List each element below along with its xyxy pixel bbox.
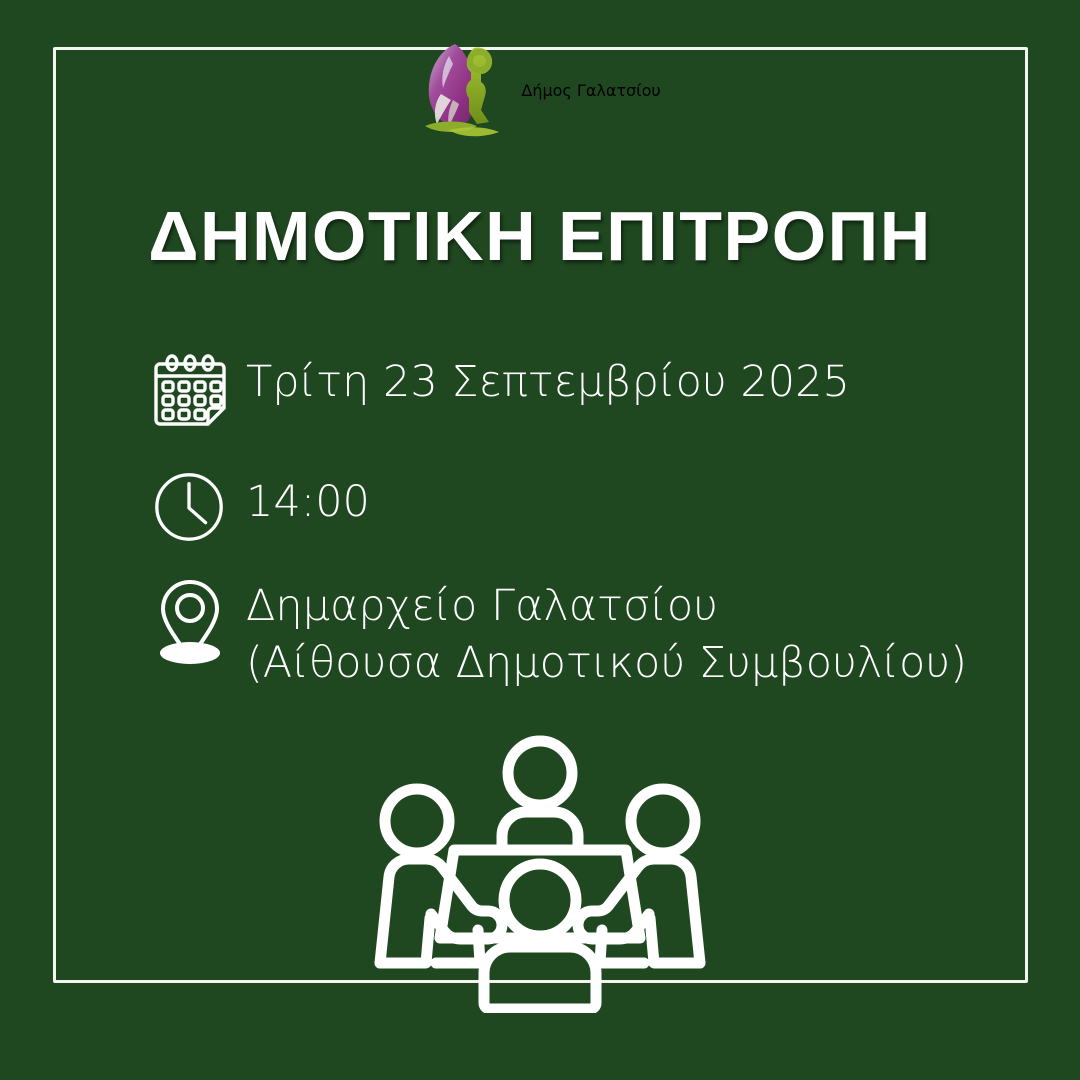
calendar-icon bbox=[150, 348, 246, 434]
meeting-table-people-icon bbox=[366, 728, 714, 1013]
brand-header: Δήμος Γαλατσίου bbox=[0, 36, 1080, 144]
event-location-row: Δημαρχείο Γαλατσίου (Αίθουσα Δημοτικού Σ… bbox=[150, 572, 1000, 692]
event-time-row: 14:00 bbox=[150, 460, 1000, 546]
event-location-text: Δημαρχείο Γαλατσίου (Αίθουσα Δημοτικού Σ… bbox=[246, 572, 967, 692]
location-pin-icon bbox=[150, 572, 246, 666]
announcement-poster: Δήμος Γαλατσίου ΔΗΜΟΤΙΚΗ ΕΠΙΤΡΟΠΗ bbox=[0, 0, 1080, 1080]
event-time-text: 14:00 bbox=[246, 460, 370, 531]
brand-name: Δήμος Γαλατσίου bbox=[521, 81, 660, 100]
event-date-text: Τρίτη 23 Σεπτεμβρίου 2025 bbox=[246, 348, 850, 411]
event-date-row: Τρίτη 23 Σεπτεμβρίου 2025 bbox=[150, 348, 1000, 434]
page-title: ΔΗΜΟΤΙΚΗ ΕΠΙΤΡΟΠΗ bbox=[0, 196, 1080, 276]
galatsi-municipality-logo-icon bbox=[419, 38, 505, 142]
event-details: Τρίτη 23 Σεπτεμβρίου 2025 14:00 Δημα bbox=[150, 348, 1000, 718]
clock-icon bbox=[150, 460, 246, 546]
